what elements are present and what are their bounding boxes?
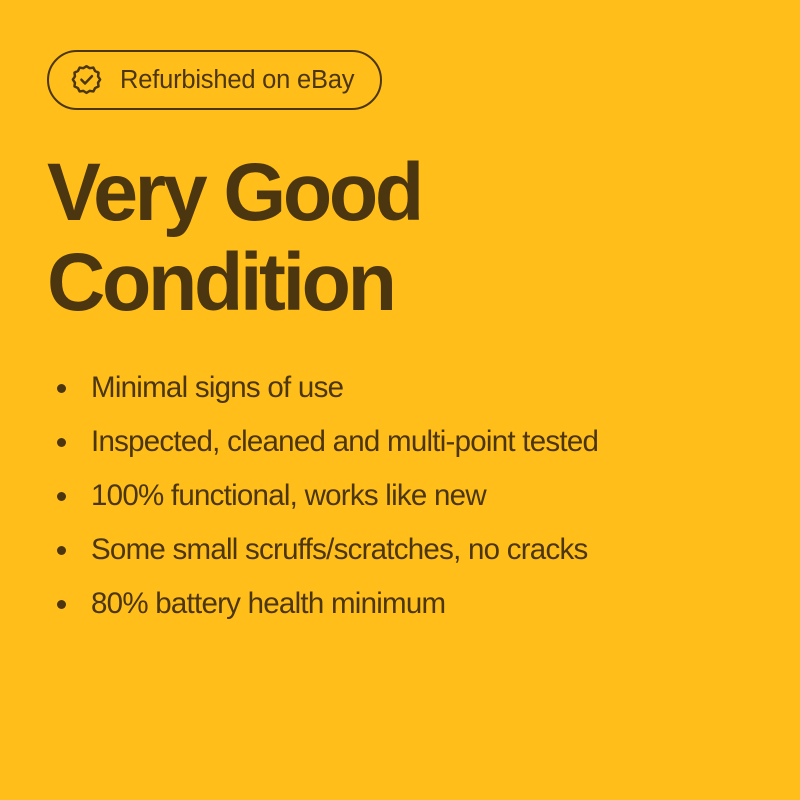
list-item-label: Minimal signs of use	[91, 373, 343, 403]
list-item: Minimal signs of use	[47, 361, 757, 415]
bullet-dot-icon	[57, 600, 66, 609]
list-item: Some small scruffs/scratches, no cracks	[47, 523, 757, 577]
page-title: Very Good Condition	[47, 148, 421, 328]
bullet-dot-icon	[57, 384, 66, 393]
bullet-dot-icon	[57, 546, 66, 555]
list-item: Inspected, cleaned and multi-point teste…	[47, 415, 757, 469]
verified-badge-check-icon	[70, 64, 103, 97]
bullet-dot-icon	[57, 438, 66, 447]
list-item-label: 100% functional, works like new	[91, 481, 486, 511]
list-item: 100% functional, works like new	[47, 469, 757, 523]
refurbished-condition-card: Refurbished on eBay Very Good Condition …	[0, 0, 800, 800]
refurbished-badge: Refurbished on eBay	[47, 50, 382, 110]
list-item-label: Inspected, cleaned and multi-point teste…	[91, 427, 598, 457]
list-item: 80% battery health minimum	[47, 577, 757, 631]
bullet-dot-icon	[57, 492, 66, 501]
list-item-label: Some small scruffs/scratches, no cracks	[91, 535, 587, 565]
refurbished-badge-label: Refurbished on eBay	[120, 68, 354, 94]
list-item-label: 80% battery health minimum	[91, 589, 445, 619]
condition-feature-list: Minimal signs of use Inspected, cleaned …	[47, 361, 757, 631]
